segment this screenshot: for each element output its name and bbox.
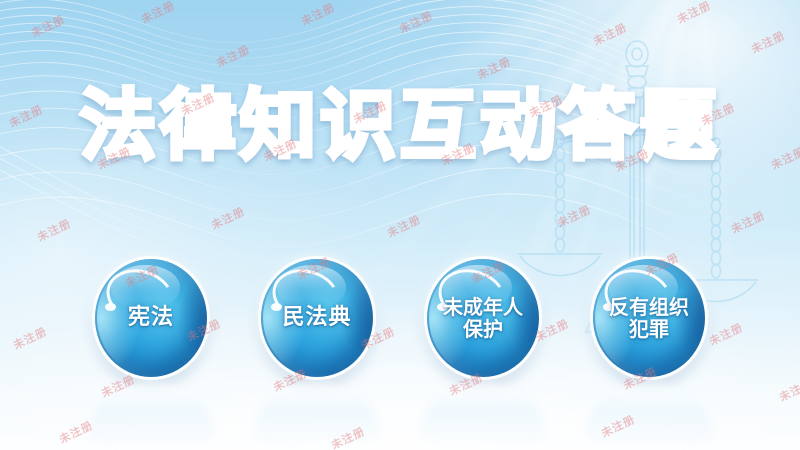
watermark-text: 未注册 — [34, 215, 73, 245]
watermark-text: 未注册 — [56, 417, 95, 447]
watermark-text: 未注册 — [213, 41, 252, 71]
watermark-text: 未注册 — [598, 411, 637, 441]
highlight-dot-icon — [603, 303, 614, 311]
page-title-wrap: 法律知识互动答题 — [0, 88, 800, 164]
category-button-label: 民法典 — [261, 259, 373, 377]
category-button-anti-organized-crime[interactable]: 反有组织 犯罪 — [593, 259, 705, 377]
watermark-text: 未注册 — [590, 19, 629, 49]
category-button-civil-code[interactable]: 民法典 — [261, 259, 373, 377]
watermark-text: 未注册 — [674, 0, 713, 27]
category-button-minor-protection[interactable]: 未成年人 保护 — [427, 259, 539, 377]
sphere-reflection — [88, 383, 214, 450]
highlight-dot-icon — [271, 303, 282, 311]
watermark-text: 未注册 — [554, 201, 593, 231]
highlight-arc-icon — [266, 262, 346, 331]
poster-canvas: 法律知识互动答题 宪法 民法典 未成年人 保护 反有组织 犯罪 未 — [0, 0, 800, 450]
highlight-arc-icon — [598, 262, 678, 331]
sphere-reflection — [586, 383, 712, 450]
category-button-label: 反有组织 犯罪 — [593, 259, 705, 377]
category-button-label: 未成年人 保护 — [427, 259, 539, 377]
watermark-text: 未注册 — [328, 423, 367, 450]
highlight-dot-icon — [437, 303, 448, 311]
watermark-text: 未注册 — [384, 211, 423, 241]
watermark-text: 未注册 — [138, 0, 177, 27]
page-title: 法律知识互动答题 — [80, 88, 720, 164]
category-button-constitution[interactable]: 宪法 — [95, 259, 207, 377]
watermark-text: 未注册 — [748, 27, 787, 57]
watermark-text: 未注册 — [28, 11, 67, 41]
watermark-text: 未注册 — [728, 207, 767, 237]
sphere-reflection — [254, 383, 380, 450]
highlight-arc-icon — [100, 262, 180, 331]
watermark-text: 未注册 — [208, 203, 247, 233]
watermark-text: 未注册 — [474, 53, 513, 83]
sphere-reflection — [420, 383, 546, 450]
category-button-row: 宪法 民法典 未成年人 保护 反有组织 犯罪 — [0, 259, 800, 389]
watermark-text: 未注册 — [396, 7, 435, 37]
highlight-dot-icon — [105, 303, 116, 311]
watermark-text: 未注册 — [298, 0, 337, 29]
category-button-label: 宪法 — [95, 259, 207, 377]
highlight-arc-icon — [432, 262, 512, 331]
